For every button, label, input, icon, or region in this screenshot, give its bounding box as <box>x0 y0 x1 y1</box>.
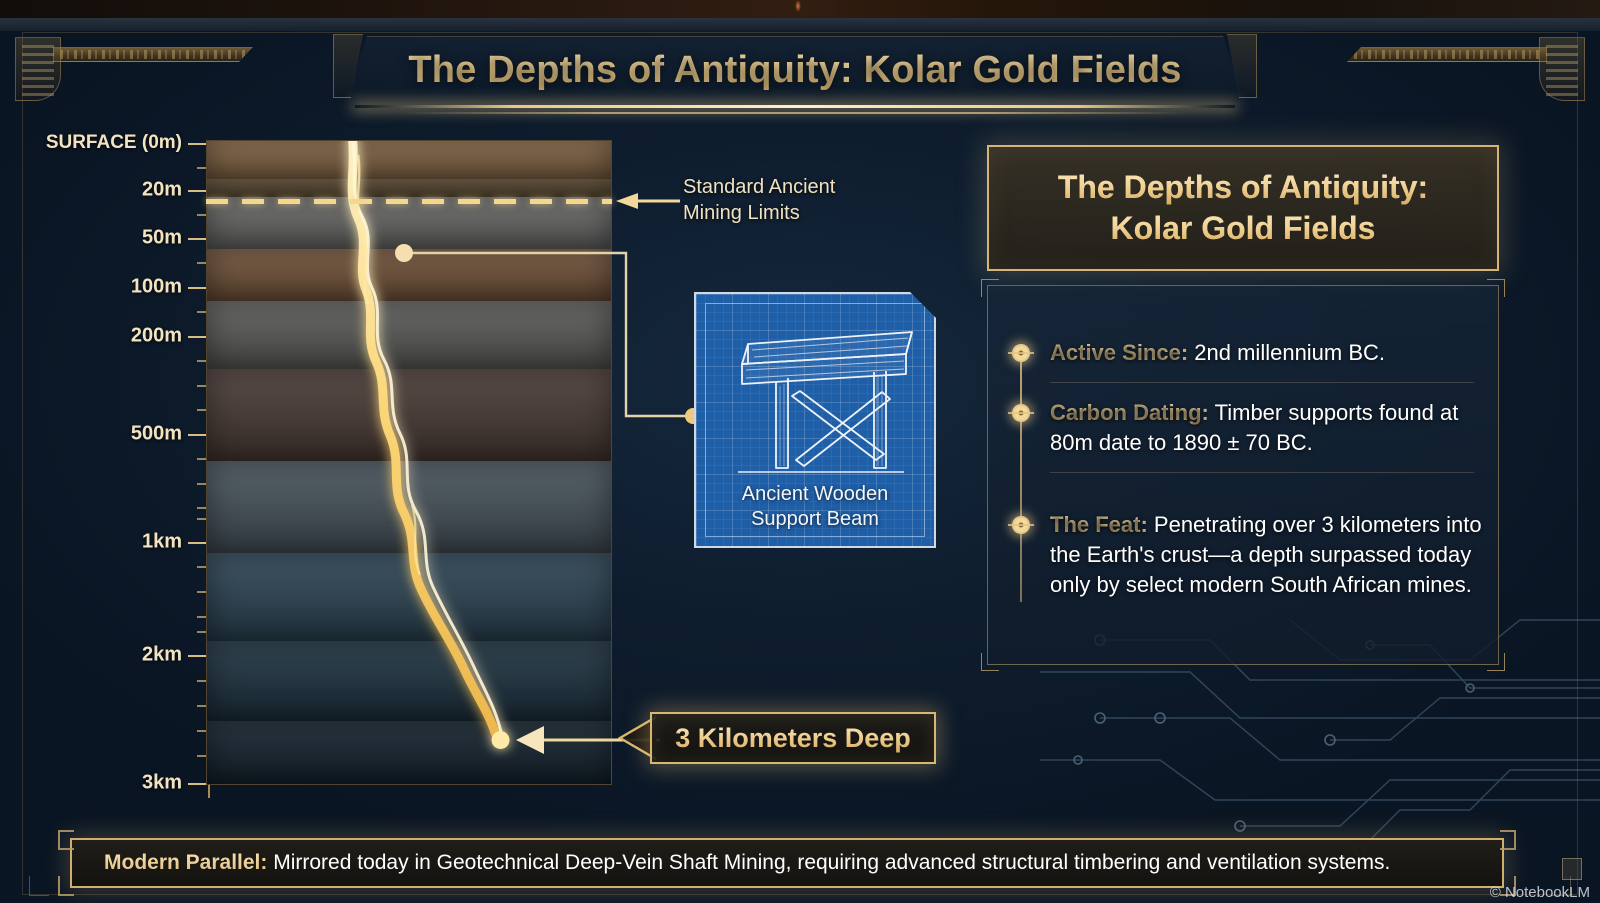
mining-limits-annotation: Standard Ancient Mining Limits <box>683 174 933 226</box>
blueprint-caption: Ancient Wooden Support Beam <box>696 482 934 532</box>
fact-label: Carbon Dating: <box>1050 400 1209 425</box>
facts-timeline-rail <box>1020 344 1022 602</box>
wooden-support-beam-icon <box>696 300 938 510</box>
top-video-strip-secondary <box>0 18 1600 31</box>
banner-body: Mirrored today in Geotechnical Deep-Vein… <box>267 851 1390 874</box>
mining-limits-line2: Mining Limits <box>683 200 933 226</box>
watermark-label: © NotebookLM <box>1490 884 1590 901</box>
banner-corner-tr <box>1500 830 1516 850</box>
depth-scale-axis: SURFACE (0m)20m50m100m200m500m1km2km3km <box>40 128 210 798</box>
page-title: The Depths of Antiquity: Kolar Gold Fiel… <box>345 36 1245 104</box>
blueprint-caption-line2: Support Beam <box>696 507 934 532</box>
facts-panel: Active Since: 2nd millennium BC.Carbon D… <box>987 285 1499 665</box>
geological-cross-section <box>206 140 612 785</box>
depth-tick-label: 500m <box>131 423 182 446</box>
fact-bullet-tick <box>1008 524 1034 526</box>
facts-corner-bl <box>981 653 999 671</box>
mining-limits-line1: Standard Ancient <box>683 174 933 200</box>
ember-spark-icon <box>795 0 801 12</box>
fact-label: Active Since: <box>1050 340 1188 365</box>
frame-corner-top-left <box>15 37 61 101</box>
depth-tick-label: 2km <box>142 644 182 667</box>
title-underline-secondary <box>403 112 1187 114</box>
frame-corner-top-right <box>1539 37 1585 101</box>
frame-bar-top-left <box>53 47 253 62</box>
facts-corner-br <box>1487 653 1505 671</box>
fact-item: Carbon Dating: Timber supports found at … <box>1050 398 1482 458</box>
facts-corner-tl <box>981 279 999 297</box>
fact-text: Carbon Dating: Timber supports found at … <box>1050 398 1482 458</box>
fact-label: The Feat: <box>1050 512 1148 537</box>
banner-corner-tl <box>58 830 74 850</box>
modern-parallel-banner: Modern Parallel: Mirrored today in Geote… <box>70 838 1504 888</box>
fact-body: 2nd millennium BC. <box>1188 340 1385 365</box>
depth-badge: 3 Kilometers Deep <box>650 712 936 764</box>
depth-tick-label: SURFACE (0m) <box>46 132 182 154</box>
side-title-line1: The Depths of Antiquity: <box>1058 169 1428 205</box>
fact-divider <box>1050 382 1474 383</box>
title-underline-glow <box>355 105 1235 108</box>
depth-tick-label: 3km <box>142 772 182 795</box>
depth-tick-label: 100m <box>131 276 182 299</box>
depth-tick-label: 50m <box>142 227 182 250</box>
fact-bullet-tick <box>1008 352 1034 354</box>
banner-corner-bl <box>58 876 74 896</box>
banner-label: Modern Parallel: <box>104 851 267 874</box>
depth-tick-label: 200m <box>131 325 182 348</box>
fact-divider <box>1050 472 1474 473</box>
frame-corner-bottom-left <box>29 876 49 896</box>
depth-tick-label: 1km <box>142 531 182 554</box>
ancient-mining-limit-line <box>206 199 612 204</box>
watermark-badge-icon <box>1562 858 1582 880</box>
side-title-card: The Depths of Antiquity: Kolar Gold Fiel… <box>987 145 1499 271</box>
facts-corner-tr <box>1487 279 1505 297</box>
side-title-line2: Kolar Gold Fields <box>1111 210 1376 246</box>
title-banner: The Depths of Antiquity: Kolar Gold Fiel… <box>345 36 1245 104</box>
mining-limit-arrow-icon <box>614 193 680 209</box>
gold-vein <box>207 141 611 783</box>
depth-badge-label: 3 Kilometers Deep <box>675 723 911 754</box>
fact-text: Active Since: 2nd millennium BC. <box>1050 338 1482 368</box>
fact-item: Active Since: 2nd millennium BC. <box>1050 338 1482 368</box>
blueprint-inset: Ancient Wooden Support Beam <box>694 292 936 548</box>
fact-item: The Feat: Penetrating over 3 kilometers … <box>1050 510 1482 600</box>
depth-tick-label: 20m <box>142 179 182 202</box>
infographic-canvas: The Depths of Antiquity: Kolar Gold Fiel… <box>0 0 1600 903</box>
blueprint-connector-line <box>390 240 710 430</box>
blueprint-caption-line1: Ancient Wooden <box>696 482 934 507</box>
banner-text: Modern Parallel: Mirrored today in Geote… <box>72 851 1390 875</box>
frame-bar-top-right <box>1347 47 1547 62</box>
fact-bullet-tick <box>1008 412 1034 414</box>
fact-text: The Feat: Penetrating over 3 kilometers … <box>1050 510 1482 600</box>
